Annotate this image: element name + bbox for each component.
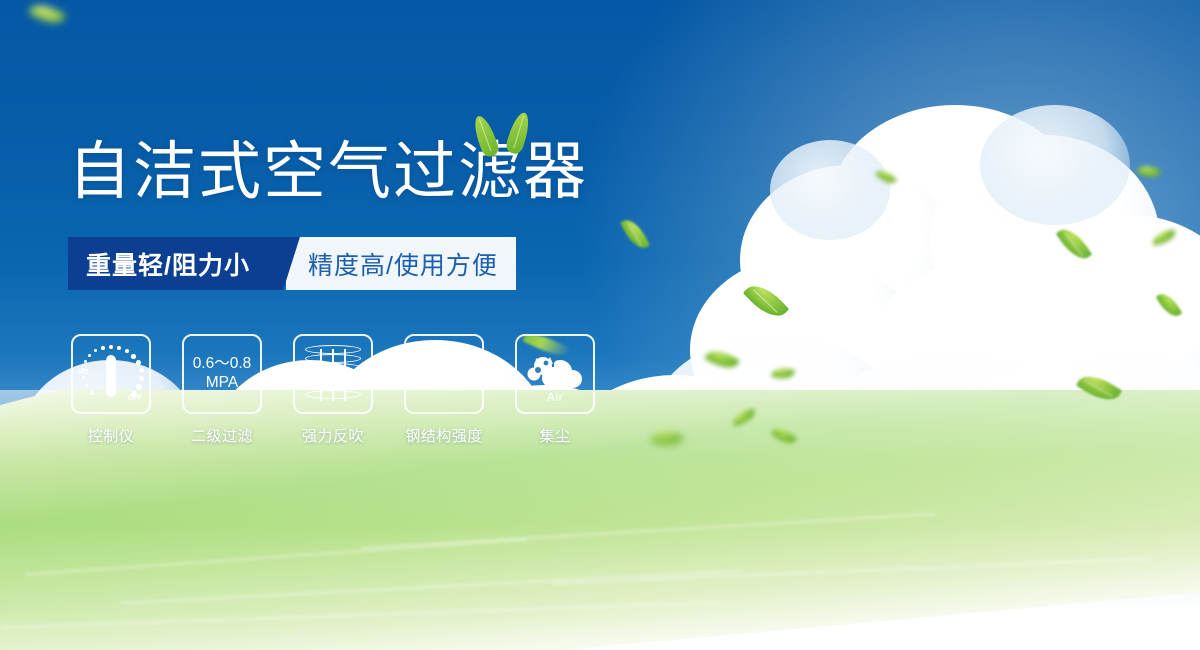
pressure-unit: MPA [193, 374, 252, 393]
feature-icon-box: 0.6～0.8 MPA [182, 334, 262, 414]
subtitle-bar: 重量轻/阻力小 精度高/使用方便 [68, 237, 516, 290]
subtitle-right: 精度高/使用方便 [286, 237, 516, 290]
feature-label: 控制仪 [88, 425, 135, 446]
subtitle-left: 重量轻/阻力小 [68, 237, 270, 290]
steel-text-icon: 3～8MM 钢板 [415, 355, 474, 392]
feature-label: 集尘 [539, 425, 570, 446]
pressure-range: 0.6～0.8 [193, 355, 252, 372]
gauge-needle-icon [106, 355, 116, 397]
feature-icon-box: 3～8MM 钢板 [404, 334, 484, 414]
feature-item-steel-strength[interactable]: 3～8MM 钢板 钢结构强度 [403, 334, 485, 446]
feature-item-dust-collection[interactable]: Air 集尘 [514, 334, 596, 446]
feature-icon-row: NO OFF 控制仪 0.6～0.8 MPA 二级过滤 [70, 334, 596, 446]
steel-thickness: 3～8MM [415, 355, 474, 372]
product-banner: 自洁式空气过滤器 重量轻/阻力小 精度高/使用方便 [0, 0, 1200, 650]
steel-material: 钢板 [415, 374, 474, 393]
pressure-text-icon: 0.6～0.8 MPA [193, 355, 252, 392]
feature-label: 二级过滤 [191, 425, 253, 446]
feature-icon-box: NO OFF [71, 334, 151, 414]
feature-label: 钢结构强度 [405, 425, 483, 446]
coil-filter-icon [305, 345, 361, 403]
feature-label: 强力反吹 [302, 425, 364, 446]
feature-item-two-stage-filter[interactable]: 0.6～0.8 MPA 二级过滤 [181, 334, 263, 446]
cloud-air-icon: Air [524, 346, 586, 402]
gauge-icon: NO OFF [78, 343, 144, 405]
feature-item-strong-blowback[interactable]: 强力反吹 [292, 334, 374, 446]
feature-icon-box: Air [515, 334, 595, 414]
feature-icon-box [293, 334, 373, 414]
air-label: Air [524, 390, 586, 404]
feature-item-controller[interactable]: NO OFF 控制仪 [70, 334, 152, 446]
gauge-min-label: NO [78, 369, 89, 376]
gauge-max-label: OFF [128, 395, 142, 402]
